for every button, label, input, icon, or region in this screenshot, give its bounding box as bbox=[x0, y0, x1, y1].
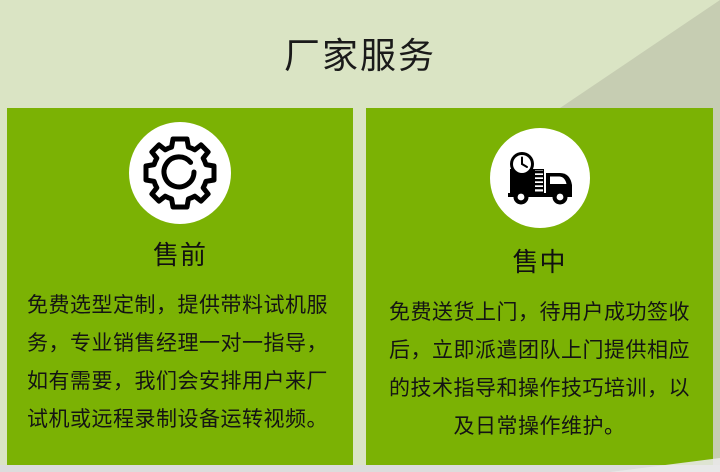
page-title: 厂家服务 bbox=[0, 33, 720, 81]
card-body-text: 免费送货上门，待用户成功签收后，立即派遣团队上门提供相应的技术指导和操作技巧培训… bbox=[380, 293, 699, 445]
header-band: 厂家服务 bbox=[0, 0, 720, 108]
card-body-text: 免费选型定制，提供带料试机服务，专业销售经理一对一指导，如有需要，我们会安排用户… bbox=[27, 286, 339, 438]
service-cards: 售前 免费选型定制，提供带料试机服务，专业销售经理一对一指导，如有需要，我们会安… bbox=[0, 108, 720, 465]
service-card-presale[interactable]: 售前 免费选型定制，提供带料试机服务，专业销售经理一对一指导，如有需要，我们会安… bbox=[7, 108, 353, 465]
icon-badge bbox=[129, 122, 231, 224]
gear-icon bbox=[142, 135, 218, 211]
service-section: 厂家服务 售前 免费选型定制，提供带料试机服务，专业销售经理一对一指导，如有需要… bbox=[0, 0, 720, 472]
delivery-truck-clock-icon bbox=[504, 149, 576, 207]
icon-badge bbox=[490, 128, 590, 228]
card-heading: 售前 bbox=[7, 239, 353, 273]
card-heading: 售中 bbox=[366, 246, 713, 280]
service-card-insale[interactable]: 售中 免费送货上门，待用户成功签收后，立即派遣团队上门提供相应的技术指导和操作技… bbox=[366, 108, 713, 465]
bottom-strip bbox=[0, 465, 720, 472]
